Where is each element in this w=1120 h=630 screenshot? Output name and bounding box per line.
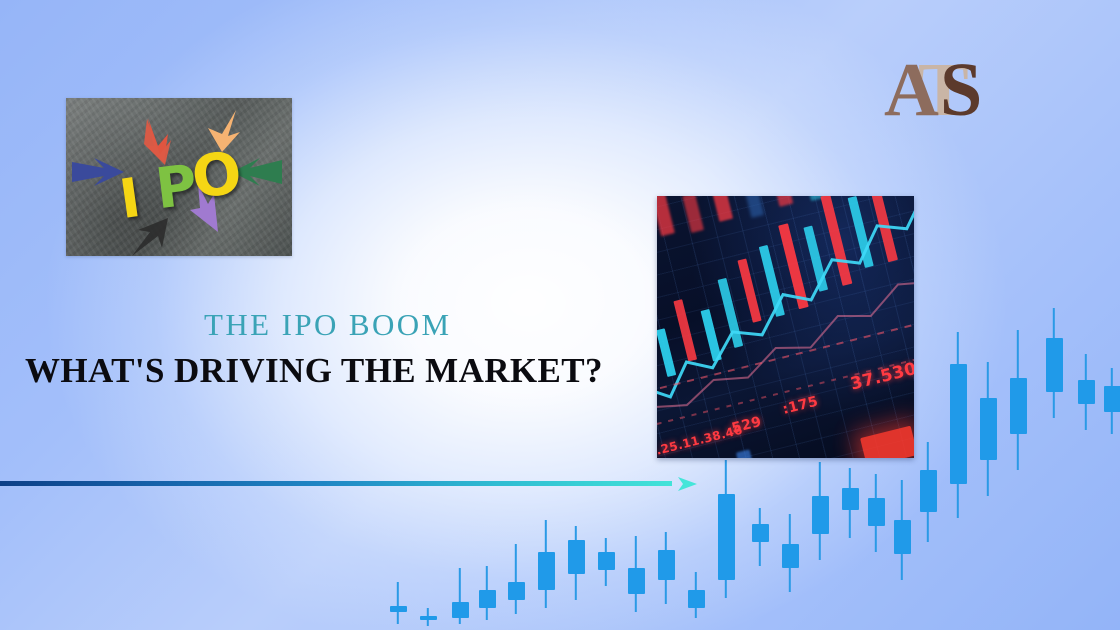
candle-body	[628, 568, 645, 594]
candle-body	[894, 520, 911, 554]
candle-body	[812, 496, 829, 534]
candle-body	[718, 494, 735, 580]
candle-body	[1078, 380, 1095, 404]
page-title: WHAT'S DRIVING THE MARKET?	[25, 351, 603, 391]
logo-letter-a: A	[884, 52, 939, 128]
candle-body	[688, 590, 705, 608]
candlestick	[568, 210, 585, 630]
candle-body	[420, 616, 437, 620]
candlestick	[920, 210, 937, 630]
candlestick	[452, 210, 469, 630]
candlestick	[1104, 210, 1120, 630]
candle-body	[658, 550, 675, 580]
ipo-letter-o: O	[189, 144, 244, 207]
candlestick	[508, 210, 525, 630]
candle-wick	[515, 544, 517, 614]
candlestick	[420, 210, 437, 630]
candle-body	[568, 540, 585, 574]
candle-body	[920, 470, 937, 512]
candle-body	[752, 524, 769, 542]
candle-body	[1104, 386, 1120, 412]
candlestick	[538, 210, 555, 630]
ats-logo: T A S	[884, 52, 988, 128]
candlestick	[628, 210, 645, 630]
candlestick	[980, 210, 997, 630]
candle-body	[598, 552, 615, 570]
candlestick	[1078, 210, 1095, 630]
poster-canvas: I P O	[0, 0, 1120, 630]
candle-body	[1046, 338, 1063, 392]
growth-arrow	[0, 476, 698, 492]
candle-body	[508, 582, 525, 600]
candle-body	[538, 552, 555, 590]
candle-body	[390, 606, 407, 612]
candle-body	[1010, 378, 1027, 434]
headline-eyebrow: THE IPO BOOM	[204, 307, 452, 343]
candle-body	[479, 590, 496, 608]
candle-body	[868, 498, 885, 526]
arrow-head-icon	[678, 476, 698, 492]
arrow-shaft	[0, 481, 672, 486]
candle-body	[842, 488, 859, 510]
candlestick	[1046, 210, 1063, 630]
ipo-photo: I P O	[66, 98, 292, 256]
candlestick	[598, 210, 615, 630]
trading-screen-photo: 11.25.11.38.46 529 :175 37.530 10.3	[657, 196, 914, 458]
candle-body	[980, 398, 997, 460]
candle-body	[950, 364, 967, 484]
logo-letter-s: S	[940, 52, 982, 128]
candle-body	[452, 602, 469, 618]
trading-board-tilt: 11.25.11.38.46 529 :175 37.530 10.3	[657, 196, 914, 458]
candlestick	[1010, 210, 1027, 630]
candle-wick	[397, 582, 399, 624]
background-candlestick-chart	[0, 210, 1120, 630]
candlestick	[479, 210, 496, 630]
candlestick	[950, 210, 967, 630]
candlestick	[390, 210, 407, 630]
candle-body	[782, 544, 799, 568]
